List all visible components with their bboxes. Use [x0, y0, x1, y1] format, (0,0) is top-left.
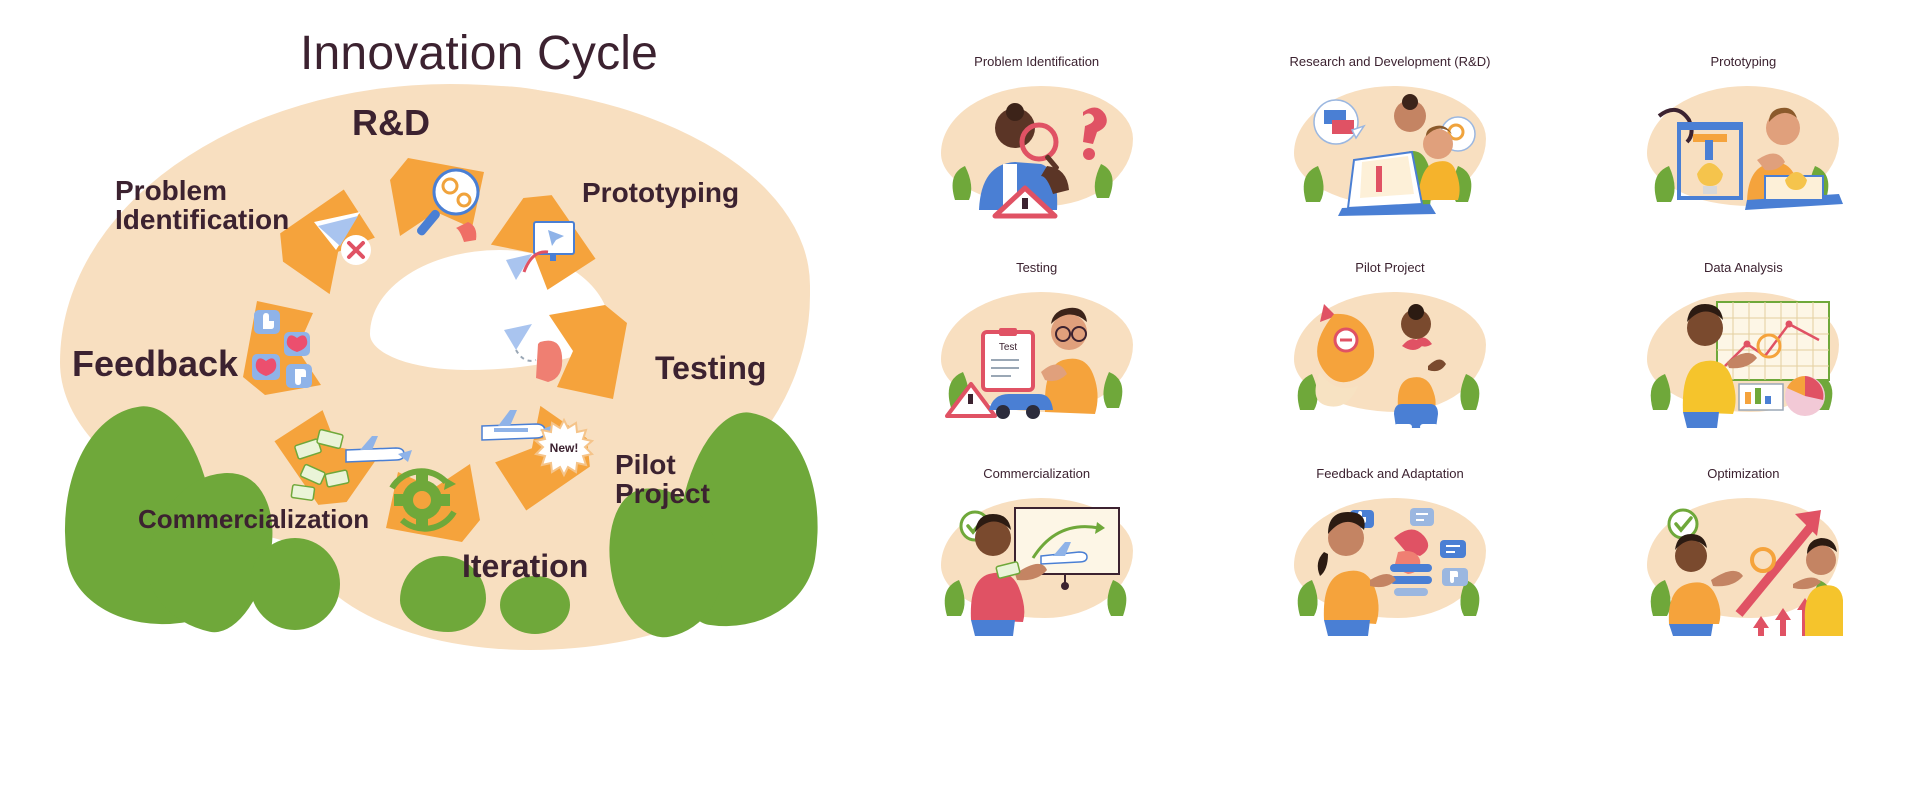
chat-bubbles-thumbs-icon	[1290, 494, 1490, 636]
leaf-decoration	[500, 576, 570, 634]
hero-label-testing: Testing	[655, 352, 766, 386]
hero-label-feedback: Feedback	[72, 345, 238, 383]
scene-title: Pilot Project	[1213, 260, 1566, 275]
scene-title: Data Analysis	[1567, 260, 1920, 275]
new-badge: New!	[534, 418, 594, 478]
scene-title: Commercialization	[860, 466, 1213, 481]
scene-cell-optimization: Optimization	[1567, 452, 1920, 658]
hero-label-pilot-project: Pilot Project	[615, 450, 745, 509]
growth-arrow-check-icon	[1643, 494, 1843, 636]
pointing-hand-icon	[504, 324, 562, 382]
3d-printer-lightbulb-icon	[1643, 82, 1843, 224]
scene-cell-problem-identification: Problem Identification	[860, 40, 1213, 246]
scene-title: Problem Identification	[860, 54, 1213, 69]
presentation-money-check-icon	[937, 494, 1137, 636]
illustration-canvas: Innovation Cycle	[0, 0, 1920, 812]
hero-label-commercialization: Commercialization	[138, 506, 369, 533]
heart-icon	[252, 354, 280, 380]
rocket-launch-icon	[1290, 288, 1490, 430]
scene-cell-research-development: Research and Development (R&D)	[1213, 40, 1566, 246]
scene-title: Prototyping	[1567, 54, 1920, 69]
chart-graph-pie-icon	[1643, 288, 1843, 430]
airplane-icon	[346, 436, 412, 462]
page-title: Innovation Cycle	[300, 26, 658, 81]
scene-cell-testing: Testing Test	[860, 246, 1213, 452]
hero-label-prototyping: Prototyping	[582, 178, 739, 207]
hero-label-rd: R&D	[352, 104, 430, 142]
scene-title: Research and Development (R&D)	[1213, 54, 1566, 69]
scene-grid: Problem Identification	[860, 40, 1920, 660]
scene-cell-data-analysis: Data Analysis	[1567, 246, 1920, 452]
innovation-cycle-hero: Innovation Cycle	[0, 0, 860, 812]
scene-cell-commercialization: Commercialization	[860, 452, 1213, 658]
checklist-car-warning-icon: Test	[937, 288, 1137, 430]
hero-label-iteration: Iteration	[462, 550, 588, 584]
thumbs-down-icon	[286, 364, 312, 388]
scene-cell-feedback-adaptation: Feedback and Adaptation	[1213, 452, 1566, 658]
scene-title: Feedback and Adaptation	[1213, 466, 1566, 481]
broken-heart-icon	[284, 332, 310, 356]
scene-cell-pilot-project: Pilot Project	[1213, 246, 1566, 452]
new-badge-label: New!	[550, 441, 579, 455]
scene-title: Optimization	[1567, 466, 1920, 481]
hero-label-problem-identification: Problem Identification	[115, 176, 315, 235]
scene-cell-prototyping: Prototyping	[1567, 40, 1920, 246]
thumbs-up-icon	[254, 310, 280, 334]
scene-title: Testing	[860, 260, 1213, 275]
team-laptop-gears-icon	[1290, 82, 1490, 224]
woman-magnifier-question-icon	[937, 82, 1137, 224]
svg-text:Test: Test	[998, 342, 1017, 353]
leaf-decoration	[250, 538, 340, 630]
